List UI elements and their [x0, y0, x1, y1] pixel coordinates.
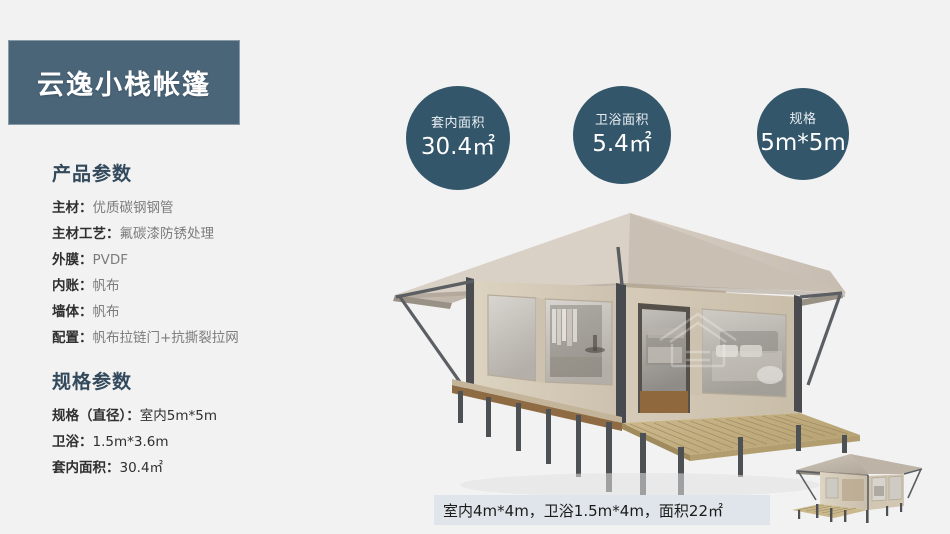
spec-label: 卫浴：	[52, 434, 93, 450]
spec-label: 规格（直径）：	[52, 408, 140, 424]
badge-value: 30.4㎡	[421, 135, 495, 159]
spec-label: 墙体：	[52, 304, 93, 320]
badge-value: 5m*5m	[760, 131, 846, 155]
spec-label: 内账：	[52, 278, 93, 294]
badge-value: 5.4㎡	[592, 132, 652, 156]
spec-heading-dimensions: 规格参数	[52, 371, 352, 394]
spec-row: 外膜：PVDF	[52, 247, 352, 273]
spec-value: 室内5m*5m	[140, 408, 217, 424]
spec-value: 30.4㎡	[120, 460, 164, 476]
title-banner: 云逸小栈帐篷	[8, 40, 240, 125]
spec-row: 墙体：帆布	[52, 299, 352, 325]
spec-label: 主材工艺：	[52, 226, 120, 242]
spec-row: 主材工艺：氟碳漆防锈处理	[52, 221, 352, 247]
caption-text: 室内4m*4m，卫浴1.5m*4m，面积22㎡	[434, 500, 723, 521]
tent-thumbnail-image[interactable]	[782, 448, 942, 528]
spec-value: 优质碳钢钢管	[93, 200, 174, 216]
spec-row: 规格（直径）：室内5m*5m	[52, 403, 352, 429]
spec-label: 套内面积：	[52, 460, 120, 476]
spec-row: 套内面积：30.4㎡	[52, 455, 352, 481]
spec-label: 外膜：	[52, 252, 93, 268]
slide-canvas: 云逸小栈帐篷 产品参数 主材：优质碳钢钢管 主材工艺：氟碳漆防锈处理 外膜：PV…	[0, 0, 950, 534]
spec-value: 氟碳漆防锈处理	[120, 226, 215, 242]
badge-label: 卫浴面积	[595, 114, 649, 128]
spec-label: 主材：	[52, 200, 93, 216]
caption-bar: 室内4m*4m，卫浴1.5m*4m，面积22㎡	[434, 495, 770, 525]
spec-label: 配置：	[52, 330, 93, 346]
spec-value: PVDF	[93, 252, 129, 268]
spec-value: 帆布	[93, 278, 120, 294]
spec-row: 内账：帆布	[52, 273, 352, 299]
spec-value: 帆布	[93, 304, 120, 320]
badge-interior-area: 套内面积 30.4㎡	[406, 86, 510, 190]
spec-row: 主材：优质碳钢钢管	[52, 195, 352, 221]
badge-label: 规格	[789, 113, 816, 127]
badge-size-spec: 规格 5m*5m	[757, 88, 849, 180]
page-title: 云逸小栈帐篷	[37, 63, 211, 102]
spec-section-product: 产品参数 主材：优质碳钢钢管 主材工艺：氟碳漆防锈处理 外膜：PVDF 内账：帆…	[52, 163, 352, 351]
spec-section-dimensions: 规格参数 规格（直径）：室内5m*5m 卫浴：1.5m*3.6m 套内面积：30…	[52, 371, 352, 481]
spec-value: 1.5m*3.6m	[93, 434, 169, 450]
spec-row: 配置：帆布拉链门+抗撕裂拉网	[52, 325, 352, 351]
spec-row: 卫浴：1.5m*3.6m	[52, 429, 352, 455]
badge-label: 套内面积	[431, 117, 485, 131]
badge-bathroom-area: 卫浴面积 5.4㎡	[573, 86, 671, 184]
spec-heading-product: 产品参数	[52, 163, 352, 186]
spec-value: 帆布拉链门+抗撕裂拉网	[93, 330, 239, 346]
specification-column: 产品参数 主材：优质碳钢钢管 主材工艺：氟碳漆防锈处理 外膜：PVDF 内账：帆…	[52, 163, 352, 495]
